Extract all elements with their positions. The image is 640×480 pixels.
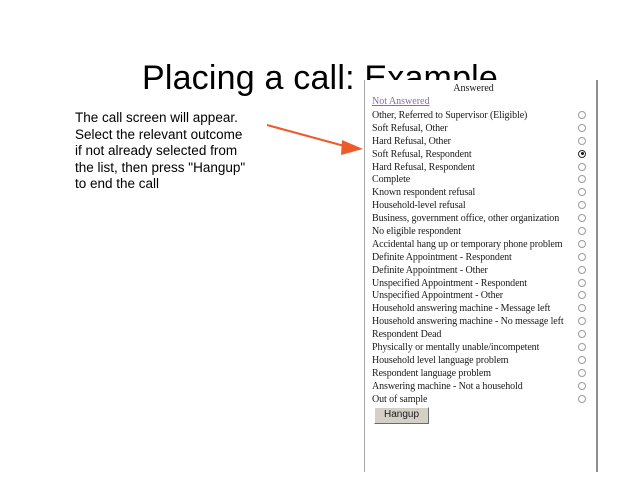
outcome-label: Household answering machine - No message…	[372, 316, 564, 327]
outcome-row[interactable]: Unspecified Appointment - Respondent	[365, 276, 596, 289]
outcome-radio[interactable]	[578, 124, 586, 132]
outcome-row[interactable]: Soft Refusal, Other	[365, 121, 596, 134]
outcome-label: Known respondent refusal	[372, 187, 475, 198]
outcome-label: Hard Refusal, Other	[372, 136, 451, 147]
outcome-radio[interactable]	[578, 175, 586, 183]
outcome-row[interactable]: Household answering machine - No message…	[365, 314, 596, 327]
outcome-label: Physically or mentally unable/incompeten…	[372, 342, 539, 353]
outcome-radio[interactable]	[578, 279, 586, 287]
outcome-label: No eligible respondent	[372, 226, 461, 237]
outcome-label: Household level language problem	[372, 355, 508, 366]
outcome-row[interactable]: Household level language problem	[365, 353, 596, 366]
outcome-radio[interactable]	[578, 163, 586, 171]
outcome-radio[interactable]	[578, 266, 586, 274]
not-answered-link[interactable]: Not Answered	[372, 96, 430, 108]
slide-canvas: Placing a call: Example The call screen …	[0, 0, 640, 480]
outcome-label: Definite Appointment - Other	[372, 265, 488, 276]
outcome-radio[interactable]	[578, 227, 586, 235]
outcome-list: Other, Referred to Supervisor (Eligible)…	[365, 108, 596, 404]
outcome-radio[interactable]	[578, 240, 586, 248]
outcome-label: Respondent language problem	[372, 368, 491, 379]
outcome-radio[interactable]	[578, 291, 586, 299]
outcome-label: Respondent Dead	[372, 329, 441, 340]
outcome-label: Other, Referred to Supervisor (Eligible)	[372, 110, 527, 121]
outcome-label: Out of sample	[372, 394, 427, 405]
outcome-label: Unspecified Appointment - Respondent	[372, 278, 527, 289]
outcome-radio[interactable]	[578, 304, 586, 312]
outcome-row[interactable]: Household-level refusal	[365, 198, 596, 211]
outcome-label: Household answering machine - Message le…	[372, 303, 550, 314]
outcome-radio[interactable]	[578, 111, 586, 119]
outcome-label: Complete	[372, 174, 410, 185]
outcome-radio[interactable]	[578, 330, 586, 338]
outcome-label: Soft Refusal, Respondent	[372, 149, 472, 160]
call-screen-panel: Answered Not Answered Other, Referred to…	[364, 80, 598, 472]
body-text-block: The call screen will appear. Select the …	[75, 110, 290, 193]
outcome-row[interactable]: Out of sample	[365, 392, 596, 405]
outcome-row[interactable]: Other, Referred to Supervisor (Eligible)	[365, 108, 596, 121]
outcome-label: Unspecified Appointment - Other	[372, 290, 503, 301]
outcome-label: Definite Appointment - Respondent	[372, 252, 512, 263]
outcome-row[interactable]: Hard Refusal, Respondent	[365, 160, 596, 173]
body-text-line: The call screen will appear.	[75, 110, 290, 127]
outcome-radio[interactable]	[578, 356, 586, 364]
outcome-row[interactable]: Accidental hang up or temporary phone pr…	[365, 237, 596, 250]
body-text-line: if not already selected from	[75, 143, 290, 160]
outcome-row[interactable]: Answering machine - Not a household	[365, 379, 596, 392]
outcome-row[interactable]: Hard Refusal, Other	[365, 134, 596, 147]
outcome-row[interactable]: Definite Appointment - Other	[365, 263, 596, 276]
body-text-line: to end the call	[75, 176, 290, 193]
hangup-button[interactable]: Hangup	[374, 407, 429, 424]
outcome-label: Soft Refusal, Other	[372, 123, 448, 134]
outcome-label: Accidental hang up or temporary phone pr…	[372, 239, 562, 250]
outcome-label: Household-level refusal	[372, 200, 466, 211]
outcome-radio[interactable]	[578, 188, 586, 196]
outcome-radio[interactable]	[578, 214, 586, 222]
outcome-label: Hard Refusal, Respondent	[372, 162, 475, 173]
outcome-row[interactable]: Definite Appointment - Respondent	[365, 250, 596, 263]
outcome-radio[interactable]	[578, 201, 586, 209]
outcome-row[interactable]: Respondent language problem	[365, 366, 596, 379]
body-text-line: the list, then press "Hangup"	[75, 160, 290, 177]
outcome-radio[interactable]	[578, 253, 586, 261]
body-text-line: Select the relevant outcome	[75, 127, 290, 144]
outcome-row[interactable]: Household answering machine - Message le…	[365, 301, 596, 314]
outcome-radio[interactable]	[578, 150, 586, 158]
outcome-label: Answering machine - Not a household	[372, 381, 523, 392]
outcome-radio[interactable]	[578, 317, 586, 325]
outcome-row[interactable]: Soft Refusal, Respondent	[365, 147, 596, 160]
outcome-row[interactable]: Respondent Dead	[365, 327, 596, 340]
outcome-row[interactable]: Unspecified Appointment - Other	[365, 288, 596, 301]
outcome-row[interactable]: Complete	[365, 172, 596, 185]
outcome-radio[interactable]	[578, 395, 586, 403]
outcome-row[interactable]: No eligible respondent	[365, 224, 596, 237]
panel-heading-answered: Answered	[365, 82, 582, 96]
outcome-radio[interactable]	[578, 369, 586, 377]
outcome-radio[interactable]	[578, 137, 586, 145]
outcome-row[interactable]: Known respondent refusal	[365, 185, 596, 198]
outcome-label: Business, government office, other organ…	[372, 213, 559, 224]
outcome-radio[interactable]	[578, 343, 586, 351]
outcome-radio[interactable]	[578, 382, 586, 390]
outcome-row[interactable]: Business, government office, other organ…	[365, 211, 596, 224]
outcome-row[interactable]: Physically or mentally unable/incompeten…	[365, 340, 596, 353]
